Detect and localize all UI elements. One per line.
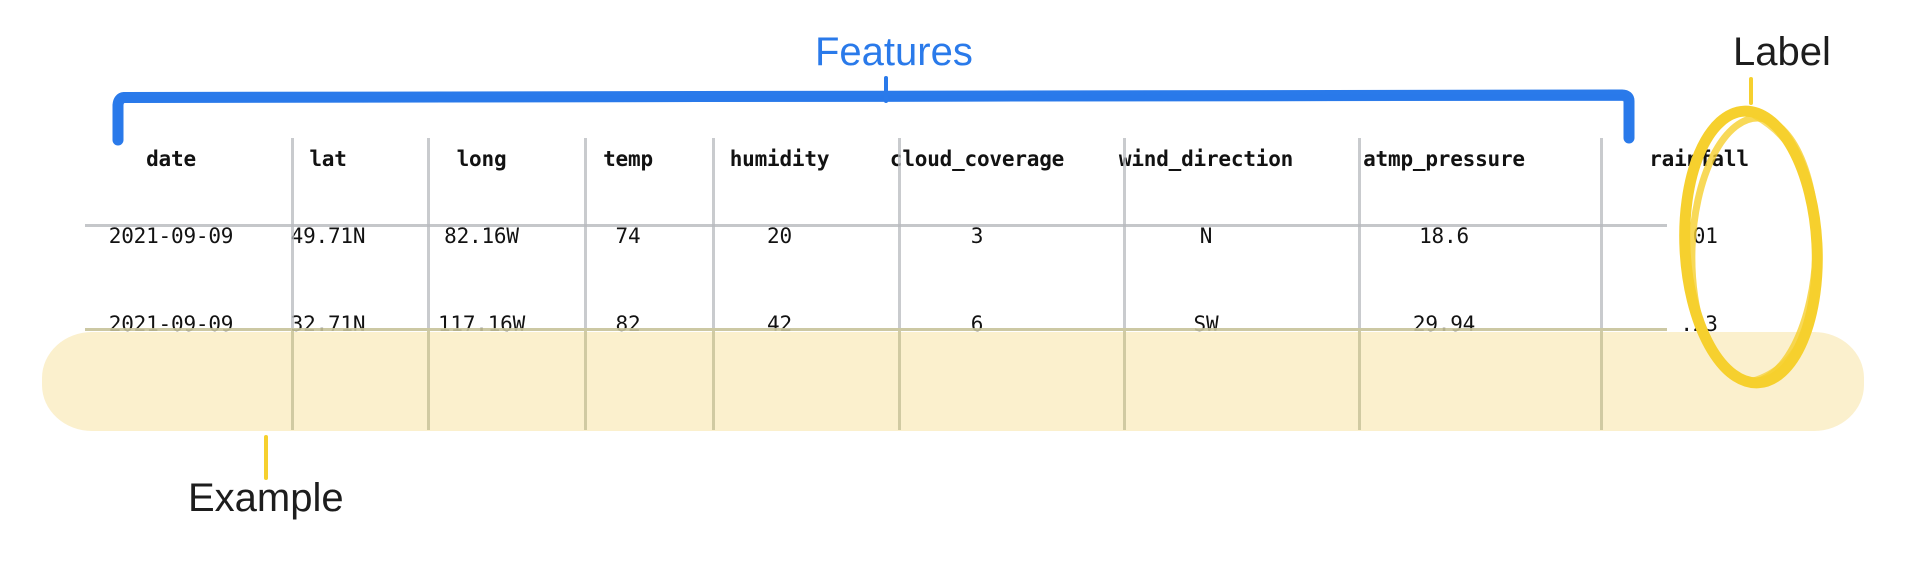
table-cell: 2021-09-09 xyxy=(85,192,257,280)
diagram-canvas: date lat long temp humidity cloud_covera… xyxy=(0,0,1920,576)
column-divider xyxy=(712,331,715,430)
row-separator-rule xyxy=(85,328,1667,331)
column-divider xyxy=(1123,331,1126,430)
features-annotation-label: Features xyxy=(815,32,973,72)
example-annotation-label: Example xyxy=(188,478,344,518)
column-divider xyxy=(584,138,587,328)
column-divider xyxy=(427,331,430,430)
table-cell: 82.16W xyxy=(399,192,564,280)
table-cell: 20 xyxy=(692,192,867,280)
column-divider xyxy=(898,138,901,328)
column-divider xyxy=(712,138,715,328)
features-connector-tick xyxy=(884,76,888,103)
column-divider xyxy=(1600,138,1603,328)
header-bottom-rule xyxy=(85,224,1667,227)
column-divider xyxy=(898,331,901,430)
table-cell: 49.71N xyxy=(257,192,399,280)
column-divider xyxy=(1358,138,1361,328)
column-divider xyxy=(1600,331,1603,430)
table-cell: 32.71N xyxy=(257,280,399,368)
label-annotation-label: Label xyxy=(1733,32,1831,72)
table-cell: 2021-09-09 xyxy=(85,280,257,368)
label-circle-icon xyxy=(1672,104,1832,394)
table-row: 2021-09-09 49.71N 82.16W 74 20 3 N 18.6 … xyxy=(85,192,1835,280)
table-cell: 42 xyxy=(692,280,867,368)
column-divider xyxy=(584,331,587,430)
dataset-table: date lat long temp humidity cloud_covera… xyxy=(85,126,1835,368)
example-connector-tick xyxy=(264,435,268,480)
column-divider xyxy=(291,331,294,430)
label-connector-tick xyxy=(1749,77,1753,105)
column-divider xyxy=(291,138,294,328)
table-row: 2021-09-09 32.71N 117.16W 82 42 6 SW 29.… xyxy=(85,280,1835,368)
column-divider xyxy=(1123,138,1126,328)
column-divider xyxy=(427,138,430,328)
column-divider xyxy=(1358,331,1361,430)
table-body: 2021-09-09 49.71N 82.16W 74 20 3 N 18.6 … xyxy=(85,192,1835,368)
features-bracket-icon xyxy=(110,88,1650,158)
table-cell: 117.16W xyxy=(399,280,564,368)
